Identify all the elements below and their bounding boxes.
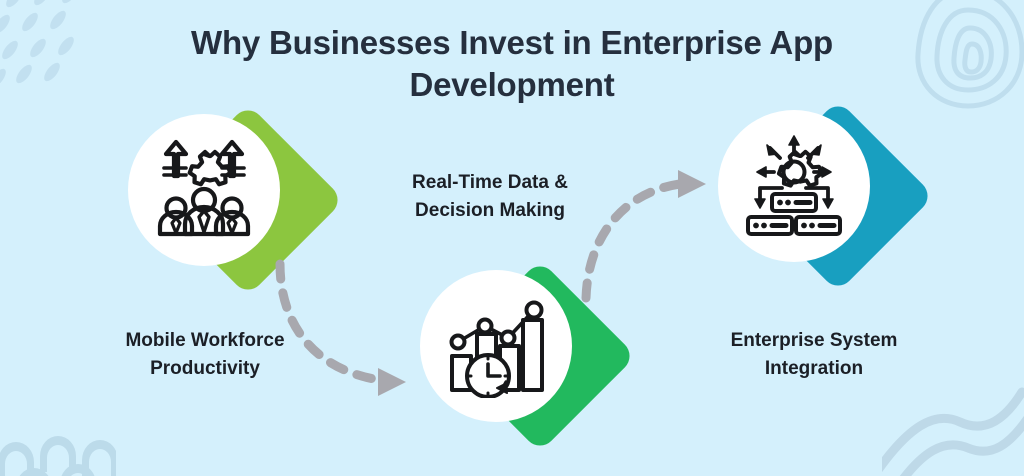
step-node-2[interactable] bbox=[420, 270, 610, 460]
step-3-icon-circle bbox=[718, 110, 870, 262]
step-2-label: Real-Time Data & Decision Making bbox=[380, 169, 600, 224]
step-node-1[interactable] bbox=[128, 114, 318, 304]
page-title: Why Businesses Invest in Enterprise App … bbox=[112, 22, 912, 106]
bar-chart-clock-icon bbox=[444, 294, 548, 398]
step-node-3[interactable] bbox=[718, 110, 908, 300]
step-1-label: Mobile Workforce Productivity bbox=[95, 327, 315, 382]
arches-pattern-bottom-left bbox=[0, 384, 116, 476]
step-2-icon-circle bbox=[420, 270, 572, 422]
gear-servers-network-icon bbox=[742, 134, 846, 238]
team-growth-gear-icon bbox=[152, 138, 256, 242]
infographic-canvas: Why Businesses Invest in Enterprise App … bbox=[0, 0, 1024, 476]
wave-lines-bottom-right bbox=[882, 366, 1024, 476]
dashes-pattern-top-left bbox=[0, 0, 114, 110]
contour-rings-top-right bbox=[904, 0, 1024, 124]
step-3-label: Enterprise System Integration bbox=[700, 327, 928, 382]
step-1-icon-circle bbox=[128, 114, 280, 266]
